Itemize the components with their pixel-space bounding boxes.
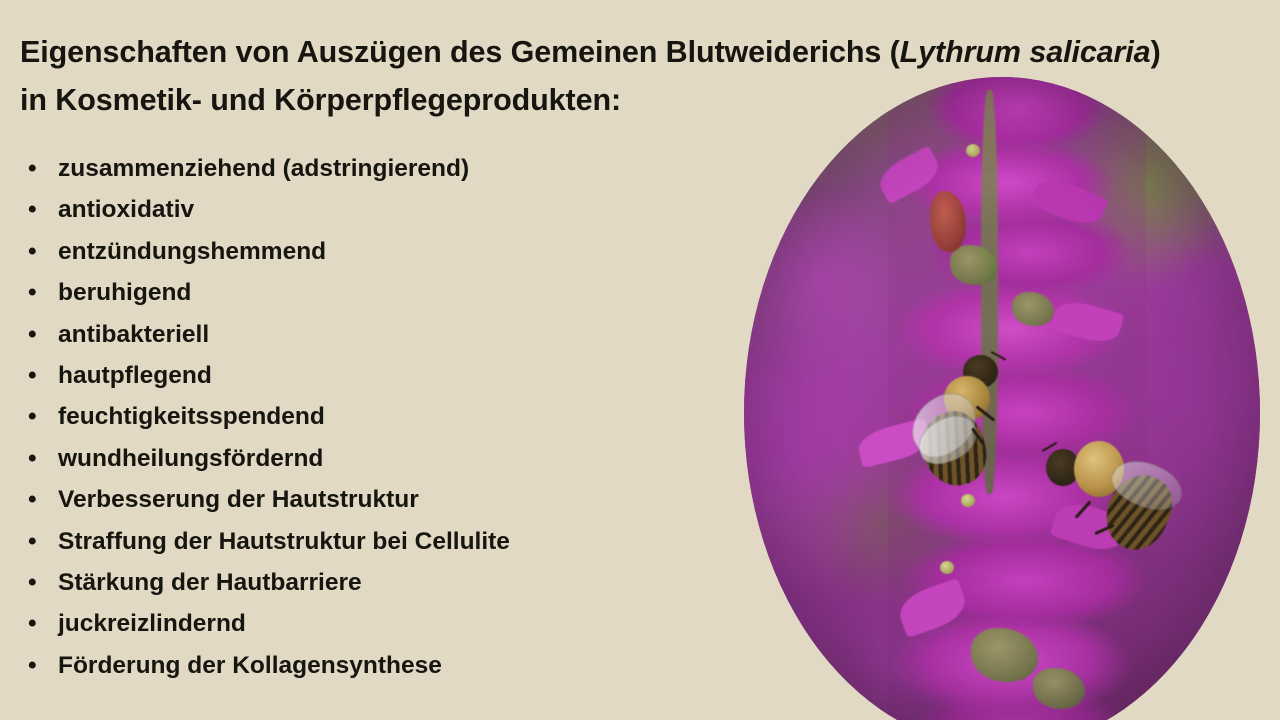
flower-calyx <box>1033 668 1085 708</box>
bullet-point-icon: • <box>28 396 42 437</box>
title-species-genus: Lythrum <box>900 35 1021 69</box>
list-item: • feuchtigkeitsspendend <box>22 396 742 437</box>
list-item-label: hautpflegend <box>58 362 212 389</box>
list-item-label: wundheilungsfördernd <box>58 445 323 472</box>
bullet-point-icon: • <box>28 231 42 272</box>
list-item: • entzündungshemmend <box>22 231 742 272</box>
flower-center <box>940 561 954 574</box>
title-species-epithet: salicaria <box>1029 35 1150 69</box>
list-item: • Verbesserung der Hautstruktur <box>22 479 742 520</box>
bullet-point-icon: • <box>28 562 42 603</box>
flower-calyx <box>1012 292 1053 326</box>
list-item: • Förderung der Kollagensynthese <box>22 645 742 686</box>
list-item: • antibakteriell <box>22 314 742 355</box>
list-item-label: zusammenziehend (adstringierend) <box>58 155 469 182</box>
list-item: • Straffung der Hautstruktur bei Celluli… <box>22 521 742 562</box>
list-item-label: antibakteriell <box>58 321 209 348</box>
loosestrife-photo <box>744 77 1260 720</box>
list-item-label: Förderung der Kollagensynthese <box>58 652 442 679</box>
bullet-point-icon: • <box>28 355 42 396</box>
bullet-point-icon: • <box>28 148 42 189</box>
title-part-1: Eigenschaften von Auszügen des Gemeinen … <box>20 35 900 69</box>
list-item: • hautpflegend <box>22 355 742 396</box>
bullet-point-icon: • <box>28 521 42 562</box>
bee-leg <box>1074 500 1091 519</box>
page-title: Eigenschaften von Auszügen des Gemeinen … <box>20 28 1170 124</box>
bullet-point-icon: • <box>28 479 42 520</box>
list-item-label: Stärkung der Hautbarriere <box>58 569 362 596</box>
list-item: • antioxidativ <box>22 189 742 230</box>
bullet-point-icon: • <box>28 438 42 479</box>
list-item: • wundheilungsfördernd <box>22 438 742 479</box>
list-item-label: entzündungshemmend <box>58 238 326 265</box>
list-item-label: antioxidativ <box>58 196 194 223</box>
list-item: • Stärkung der Hautbarriere <box>22 562 742 603</box>
list-item-label: feuchtigkeitsspendend <box>58 403 325 430</box>
list-item-label: juckreizlindernd <box>58 610 246 637</box>
bullet-point-icon: • <box>28 603 42 644</box>
bullet-point-icon: • <box>28 645 42 686</box>
bullet-point-icon: • <box>28 314 42 355</box>
honeybee <box>904 353 1038 501</box>
bullet-point-icon: • <box>28 189 42 230</box>
list-item-label: Straffung der Hautstruktur bei Cellulite <box>58 528 510 555</box>
flower-center <box>966 144 980 157</box>
honeybee <box>1038 426 1177 567</box>
list-item-label: Verbesserung der Hautstruktur <box>58 486 419 513</box>
bullet-point-icon: • <box>28 272 42 313</box>
slide-canvas: Eigenschaften von Auszügen des Gemeinen … <box>0 0 1280 720</box>
list-item-label: beruhigend <box>58 279 191 306</box>
list-item: • beruhigend <box>22 272 742 313</box>
list-item: • zusammenziehend (adstringierend) <box>22 148 742 189</box>
properties-bullet-list: • zusammenziehend (adstringierend) • ant… <box>22 148 742 686</box>
list-item: • juckreizlindernd <box>22 603 742 644</box>
